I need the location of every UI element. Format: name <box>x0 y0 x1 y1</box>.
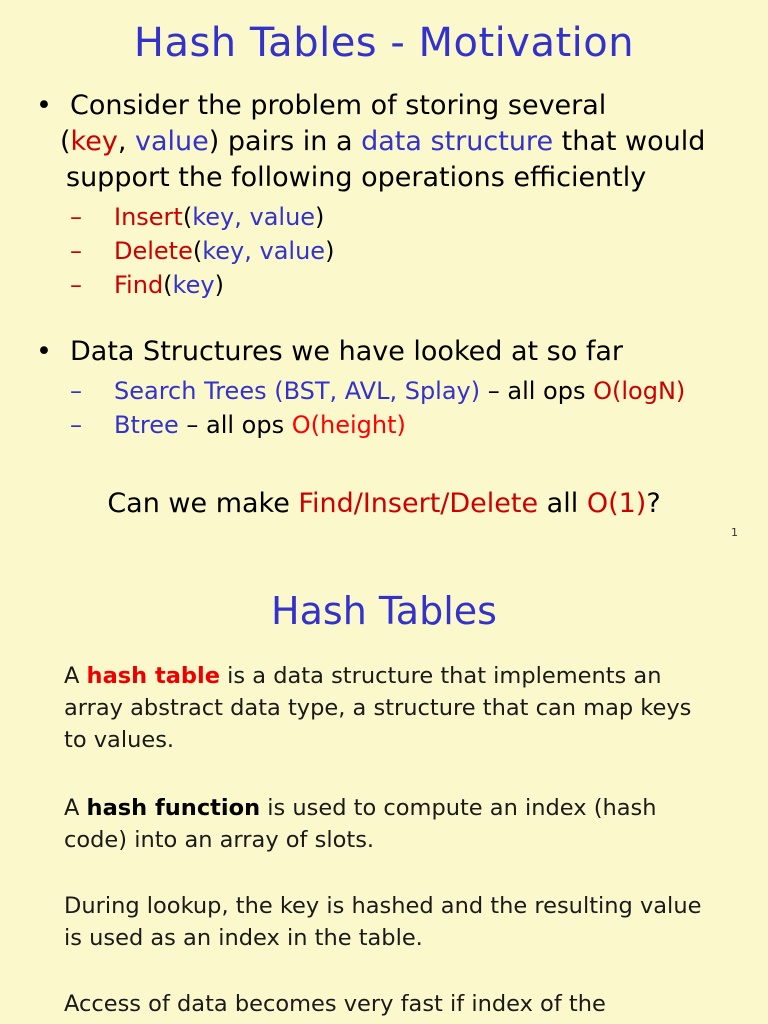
paragraph-hash-function-def: A hash function is used to compute an in… <box>64 792 704 856</box>
insert-paren-close: ) <box>315 203 324 231</box>
search-trees-mid: – all ops <box>480 377 593 405</box>
dash-icon: – <box>70 408 82 442</box>
bullet-line-3: support the following operations efficie… <box>66 162 646 193</box>
insert-args: key, value <box>192 203 315 231</box>
p2-pre: A <box>64 795 87 821</box>
paragraph-lookup: During lookup, the key is hashed and the… <box>64 890 704 954</box>
paragraph-access-truncated: Access of data becomes very fast if inde… <box>64 988 704 1020</box>
op-name-delete: Delete <box>114 237 193 265</box>
find-args: key <box>173 271 215 299</box>
sub-item-search-trees: – Search Trees (BST, AVL, Splay) – all o… <box>26 374 746 408</box>
complexity-logn: O(logN) <box>593 377 685 405</box>
slide1-title: Hash Tables - Motivation <box>0 22 768 64</box>
bullet-dot-icon: • <box>36 88 52 124</box>
sub-item-find: – Find(key) <box>26 268 746 302</box>
op-name-insert: Insert <box>114 203 183 231</box>
dash-icon: – <box>70 268 82 302</box>
find-paren-open: ( <box>163 271 172 299</box>
question-suffix: ? <box>646 488 660 519</box>
delete-paren-close: ) <box>325 237 334 265</box>
find-paren-close: ) <box>215 271 224 299</box>
bullet-item-data-structures: • Data Structures we have looked at so f… <box>26 334 746 370</box>
p1-emphasis: hash table <box>87 663 220 689</box>
p1-pre: A <box>64 663 87 689</box>
insert-paren-open: ( <box>183 203 192 231</box>
bullet-line-2-tail: that would <box>553 126 705 157</box>
sub-item-insert: – Insert(key, value) <box>26 200 746 234</box>
complexity-height: O(height) <box>292 411 406 439</box>
closing-question: Can we make Find/Insert/Delete all O(1)? <box>0 487 768 521</box>
bullet-dot-icon: • <box>36 334 52 370</box>
token-comma: , <box>118 126 135 157</box>
op-name-find: Find <box>114 271 163 299</box>
p2-emphasis: hash function <box>87 795 261 821</box>
token-data-structure: data structure <box>361 126 553 157</box>
delete-args: key, value <box>202 237 325 265</box>
p4-text: Access of data becomes very fast if inde… <box>64 991 606 1017</box>
bullet-group-problem: • Consider the problem of storing severa… <box>26 88 746 302</box>
slide-deck-page: Hash Tables - Motivation • Consider the … <box>0 0 768 1024</box>
paragraph-hash-table-def: A hash table is a data structure that im… <box>64 660 704 756</box>
term-search-trees: Search Trees (BST, AVL, Splay) <box>114 377 480 405</box>
paren-close-pairs: ) pairs in a <box>209 126 361 157</box>
question-big-o: O(1) <box>587 488 647 519</box>
delete-paren-open: ( <box>193 237 202 265</box>
bullet-group-structures: • Data Structures we have looked at so f… <box>26 334 746 442</box>
question-prefix: Can we make <box>107 488 298 519</box>
bullet-item-consider: • Consider the problem of storing severa… <box>26 88 746 124</box>
dash-icon: – <box>70 234 82 268</box>
dash-icon: – <box>70 374 82 408</box>
slide2-title: Hash Tables <box>0 592 768 632</box>
bullet-line-1: Consider the problem of storing several <box>70 90 606 121</box>
slide-hash-tables: Hash Tables A hash table is a data struc… <box>0 560 768 1024</box>
btree-mid: – all ops <box>179 411 292 439</box>
question-mid: all <box>538 488 587 519</box>
bullet-item-support: support the following operations efficie… <box>26 160 746 196</box>
dash-icon: – <box>70 200 82 234</box>
bullet-item-pairs: (key, value) pairs in a data structure t… <box>26 124 746 160</box>
paren-open: ( <box>60 126 71 157</box>
sub-item-delete: – Delete(key, value) <box>26 234 746 268</box>
token-value: value <box>135 126 209 157</box>
term-btree: Btree <box>114 411 179 439</box>
page-number: 1 <box>731 526 738 539</box>
slide-motivation: Hash Tables - Motivation • Consider the … <box>0 0 768 560</box>
p3-text: During lookup, the key is hashed and the… <box>64 893 701 951</box>
sub-item-btree: – Btree – all ops O(height) <box>26 408 746 442</box>
token-key: key <box>71 126 118 157</box>
bullet2-line-1: Data Structures we have looked at so far <box>70 336 623 367</box>
question-ops: Find/Insert/Delete <box>298 488 538 519</box>
